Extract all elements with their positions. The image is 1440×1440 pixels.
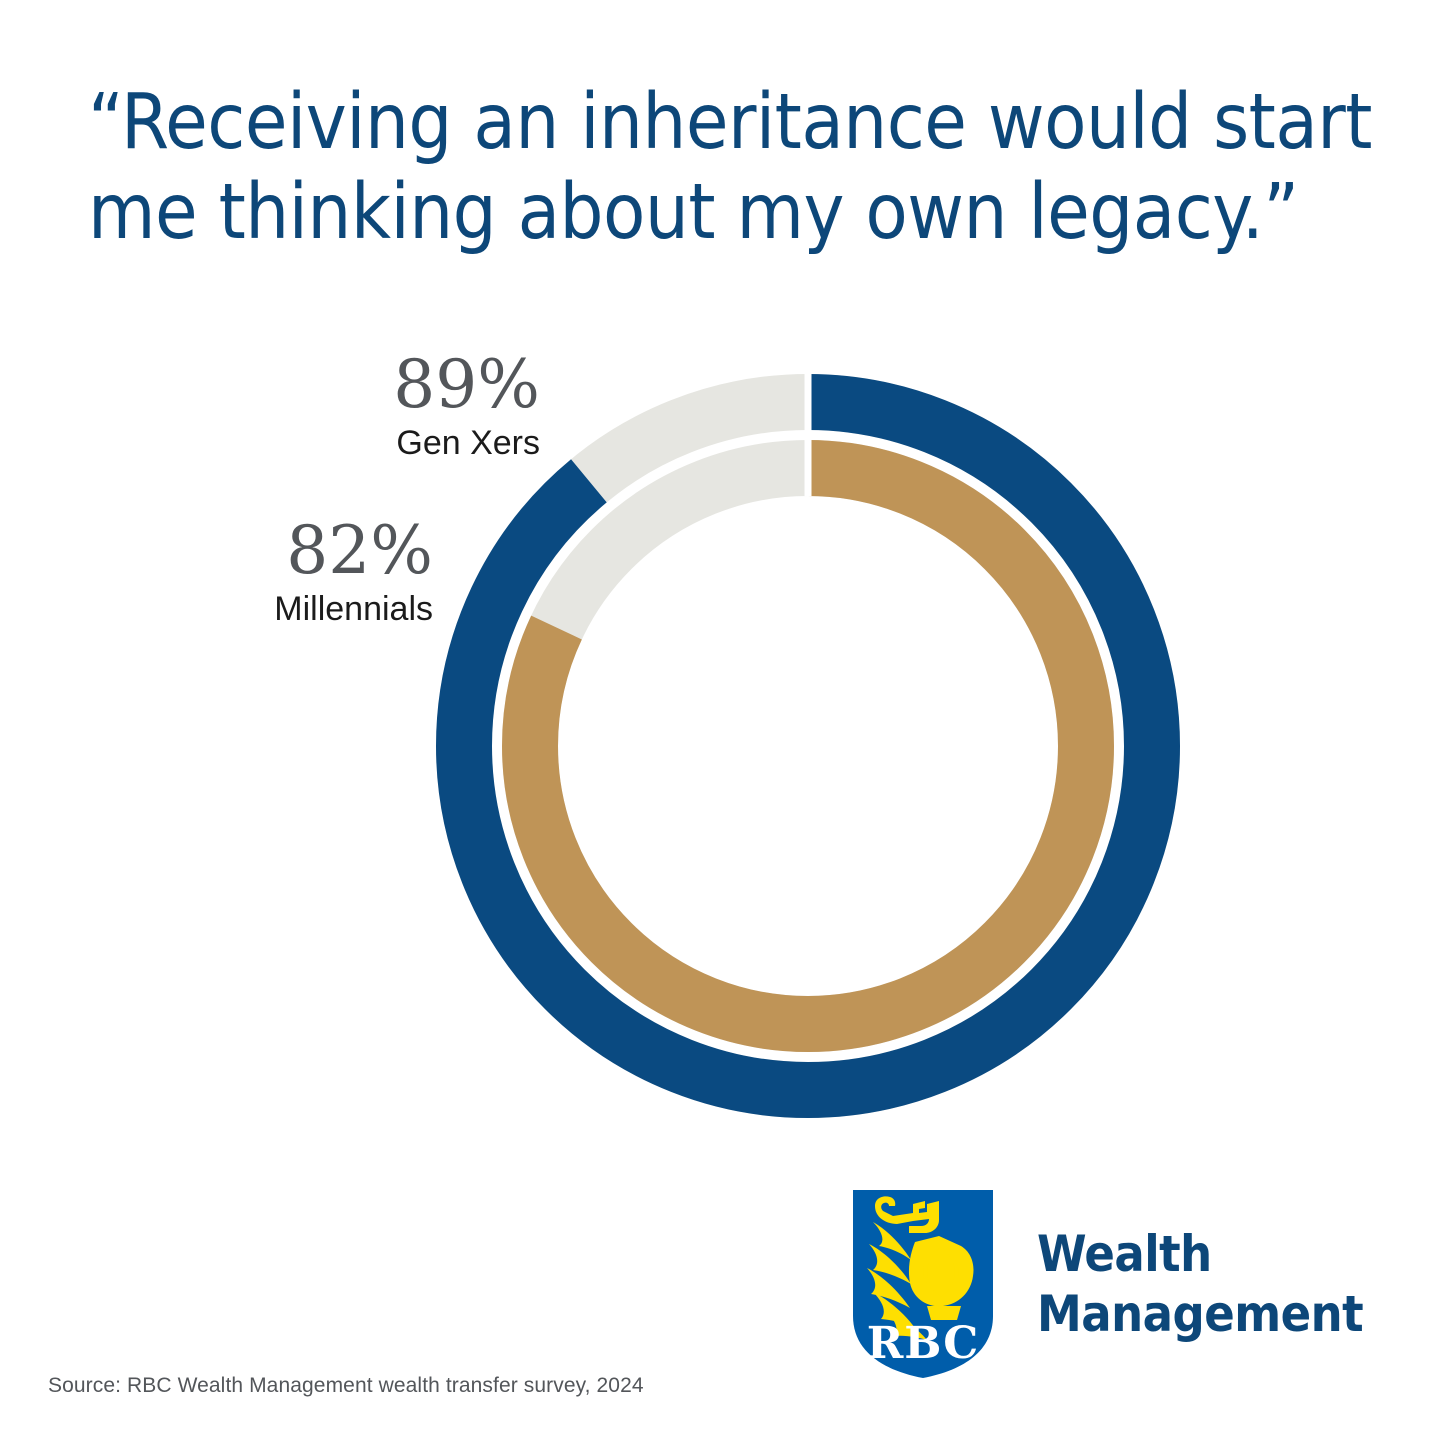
page-title: “Receiving an inheritance would start me… bbox=[88, 78, 1378, 258]
outer-ring-value-arc bbox=[464, 402, 1152, 1090]
callout-millennials-label: Millennials bbox=[70, 588, 433, 631]
callout-gen-xers-label: Gen Xers bbox=[180, 422, 540, 465]
rbc-shield-logo: RBC bbox=[853, 1190, 993, 1378]
inner-ring-value-arc bbox=[530, 468, 1086, 1024]
rbc-shield-wordmark: RBC bbox=[867, 1318, 980, 1369]
callout-millennials-value: 82% bbox=[70, 518, 433, 584]
source-note: Source: RBC Wealth Management wealth tra… bbox=[48, 1374, 644, 1398]
inner-ring-track bbox=[530, 468, 1086, 1024]
callout-gen-xers: 89% Gen Xers bbox=[180, 352, 540, 465]
callout-gen-xers-value: 89% bbox=[180, 352, 540, 418]
outer-ring-track bbox=[464, 402, 1152, 1090]
brand-name: Wealth Management bbox=[1037, 1224, 1363, 1344]
callout-millennials: 82% Millennials bbox=[70, 518, 433, 631]
brand-lockup: RBC Wealth Management bbox=[853, 1190, 1363, 1378]
